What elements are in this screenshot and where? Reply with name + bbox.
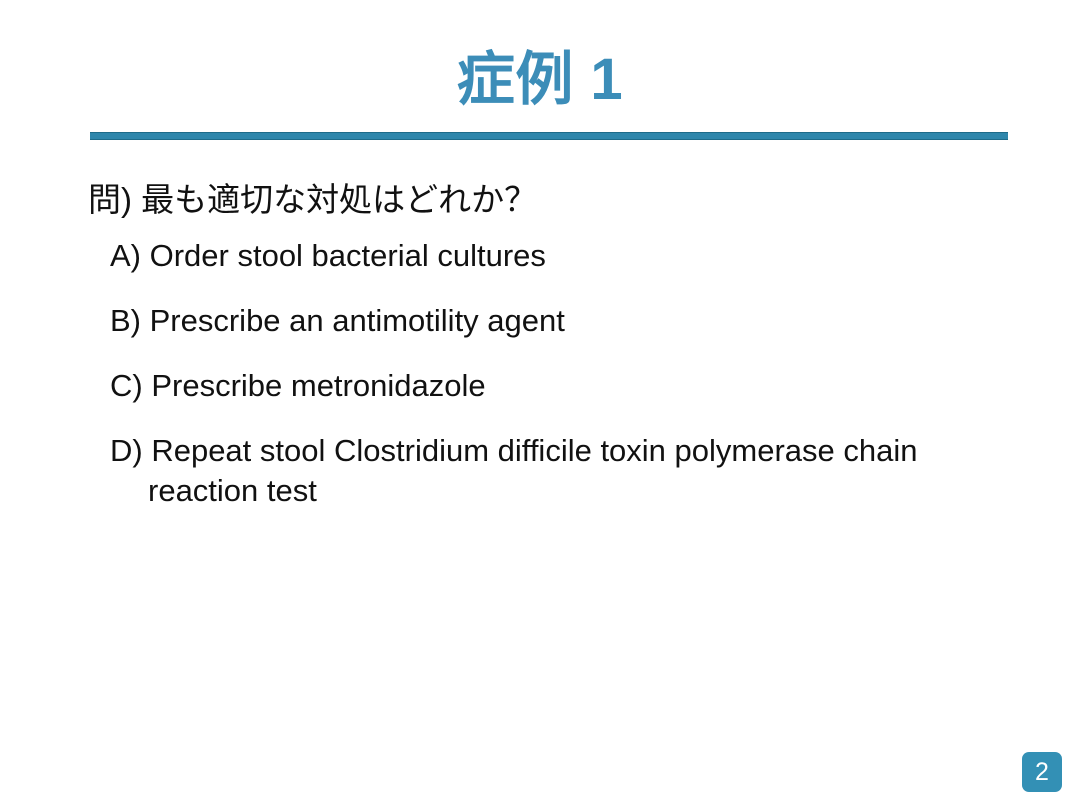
question-text: 問) 最も適切な対処はどれか？ [88, 178, 1018, 222]
answer-option-b[interactable]: B) Prescribe an antimotility agent [88, 301, 1018, 341]
answer-options-list: A) Order stool bacterial cultures B) Pre… [88, 236, 1018, 511]
answer-option-a[interactable]: A) Order stool bacterial cultures [88, 236, 1018, 276]
page-number-badge: 2 [1022, 752, 1062, 792]
page-title: 症例 1 [0, 44, 1080, 116]
answer-option-d[interactable]: D) Repeat stool Clostridium difficile to… [88, 431, 1018, 511]
title-divider-rule [90, 132, 1008, 140]
slide: 症例 1 問) 最も適切な対処はどれか？ A) Order stool bact… [0, 0, 1080, 810]
slide-body: 問) 最も適切な対処はどれか？ A) Order stool bacterial… [88, 178, 1018, 511]
answer-option-c[interactable]: C) Prescribe metronidazole [88, 366, 1018, 406]
